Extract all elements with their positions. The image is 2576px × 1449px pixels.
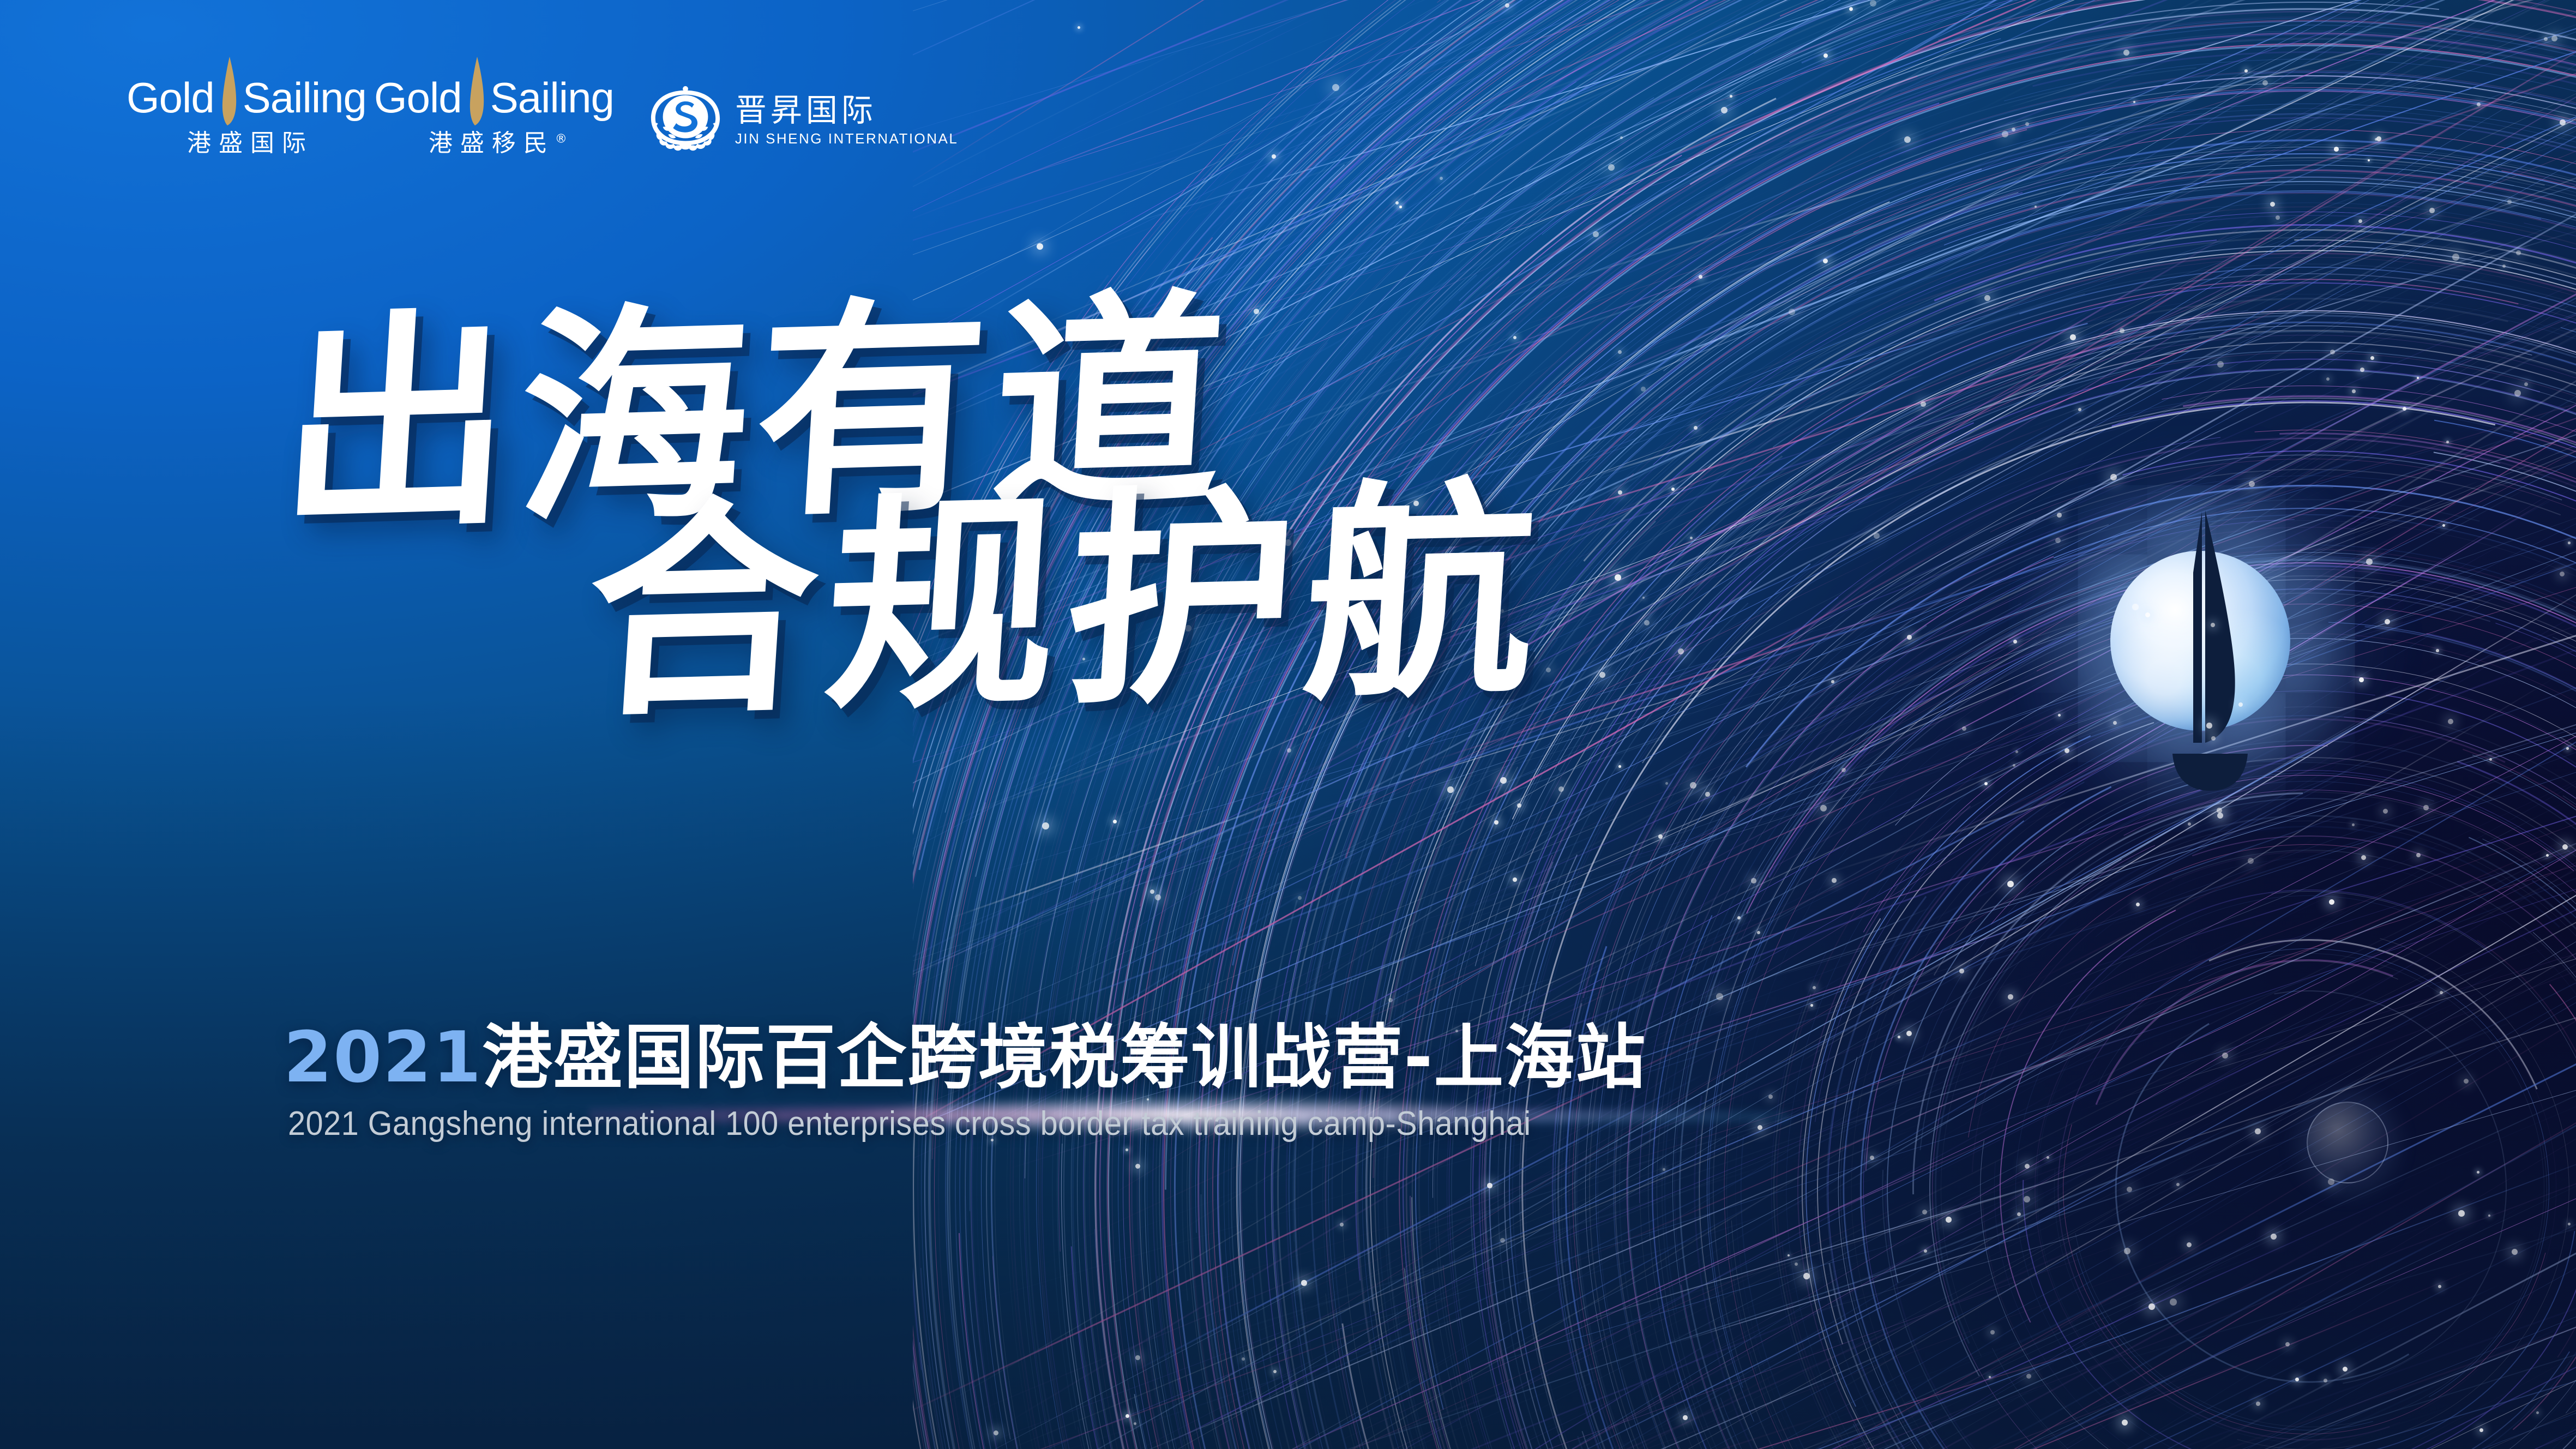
- bottom-dark-wash: [0, 0, 2576, 1449]
- logo-jin-sheng-international[interactable]: 晋昇国际 JIN SHENG INTERNATIONAL: [648, 83, 959, 158]
- gold-sailing-wordmark: Gold Sailing: [374, 65, 614, 118]
- event-poster: Gold Sailing 港盛国际 Gold Sailing 港盛移民®: [0, 0, 2576, 1449]
- jin-sheng-english: JIN SHENG INTERNATIONAL: [735, 130, 959, 147]
- logo-bar: Gold Sailing 港盛国际 Gold Sailing 港盛移民®: [127, 65, 958, 158]
- logo-gold-sailing-gangsheng-immigration[interactable]: Gold Sailing 港盛移民®: [374, 65, 614, 158]
- logo-word-sailing: Sailing: [490, 77, 614, 118]
- right-dark-wash: [0, 0, 2576, 1449]
- moon-texture: [2110, 551, 2290, 731]
- jin-sheng-texts: 晋昇国际 JIN SHENG INTERNATIONAL: [735, 94, 959, 147]
- subtitle-chinese-rest: 港盛国际百企跨境税筹训战营-上海站: [482, 1017, 1646, 1098]
- sailboat-icon: [2148, 507, 2274, 791]
- gold-sail-icon: [215, 57, 240, 127]
- hero-title-line-1: 出海有道: [275, 274, 1780, 540]
- hero-title-line-2: 合规护航: [581, 473, 1780, 726]
- subtitle-chinese: 2021港盛国际百企跨境税筹训战营-上海站: [284, 1001, 1646, 1102]
- flowing-light-streaks: [913, 0, 2576, 1449]
- logo-word-gold: Gold: [374, 77, 462, 118]
- s-monogram-laurel-oval-icon: [648, 83, 723, 158]
- registered-trademark-icon: ®: [555, 132, 567, 146]
- logo-word-sailing: Sailing: [243, 77, 366, 118]
- logo-chinese-name: 港盛国际: [179, 123, 314, 158]
- gold-sailing-wordmark: Gold Sailing: [127, 65, 366, 118]
- jin-sheng-chinese: 晋昇国际: [735, 94, 959, 127]
- hero-title: 出海有道 合规护航: [0, 294, 1772, 712]
- logo-chinese-name: 港盛移民®: [421, 123, 567, 158]
- logo-word-gold: Gold: [127, 77, 214, 118]
- translucent-bubble: [2307, 1102, 2388, 1183]
- subtitle-english: 2021 Gangsheng international 100 enterpr…: [288, 1104, 1531, 1143]
- glowing-moon-sphere: [2110, 551, 2290, 731]
- sparkle-dots: [0, 0, 2576, 1449]
- logo-gold-sailing-gangsheng-international[interactable]: Gold Sailing 港盛国际: [127, 65, 366, 158]
- gold-sail-icon: [463, 57, 488, 127]
- subtitle-year: 2021: [284, 1017, 482, 1098]
